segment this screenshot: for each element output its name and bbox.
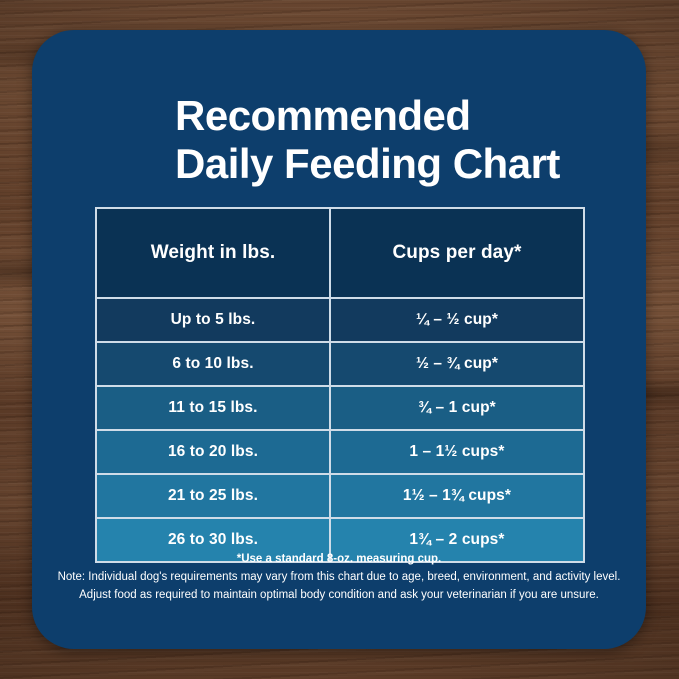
- column-header-weight: Weight in lbs.: [96, 208, 330, 298]
- table-row: Up to 5 lbs. ¼ – ½ cup*: [96, 298, 584, 342]
- table-row: 21 to 25 lbs. 1½ – 1¾ cups*: [96, 474, 584, 518]
- table-header-row: Weight in lbs. Cups per day*: [96, 208, 584, 298]
- feeding-chart-image: Recommended Daily Feeding Chart Weight i…: [0, 0, 679, 679]
- page-title: Recommended Daily Feeding Chart: [175, 92, 645, 189]
- title-line-1: Recommended: [175, 92, 645, 140]
- feeding-chart-card: Recommended Daily Feeding Chart Weight i…: [32, 30, 646, 649]
- cell-cups: ½ – ¾ cup*: [330, 342, 584, 386]
- cell-weight: 6 to 10 lbs.: [96, 342, 330, 386]
- cell-weight: Up to 5 lbs.: [96, 298, 330, 342]
- table-row: 6 to 10 lbs. ½ – ¾ cup*: [96, 342, 584, 386]
- feeding-table: Weight in lbs. Cups per day* Up to 5 lbs…: [95, 207, 585, 563]
- cell-cups: 1½ – 1¾ cups*: [330, 474, 584, 518]
- cell-cups: ¾ – 1 cup*: [330, 386, 584, 430]
- footnote-note-line: Note: Individual dog's requirements may …: [56, 569, 622, 587]
- table-body: Up to 5 lbs. ¼ – ½ cup* 6 to 10 lbs. ½ –…: [96, 298, 584, 562]
- column-header-cups: Cups per day*: [330, 208, 584, 298]
- cell-cups: 1 – 1½ cups*: [330, 430, 584, 474]
- cell-weight: 16 to 20 lbs.: [96, 430, 330, 474]
- cell-cups: ¼ – ½ cup*: [330, 298, 584, 342]
- table-header: Weight in lbs. Cups per day*: [96, 208, 584, 298]
- footnote-adjust-line: Adjust food as required to maintain opti…: [56, 587, 622, 605]
- cell-weight: 21 to 25 lbs.: [96, 474, 330, 518]
- title-line-2: Daily Feeding Chart: [175, 140, 645, 188]
- cell-weight: 11 to 15 lbs.: [96, 386, 330, 430]
- footnotes: *Use a standard 8-oz. measuring cup. Not…: [56, 551, 622, 604]
- table-row: 16 to 20 lbs. 1 – 1½ cups*: [96, 430, 584, 474]
- table-row: 11 to 15 lbs. ¾ – 1 cup*: [96, 386, 584, 430]
- footnote-measuring-cup: *Use a standard 8-oz. measuring cup.: [56, 551, 622, 569]
